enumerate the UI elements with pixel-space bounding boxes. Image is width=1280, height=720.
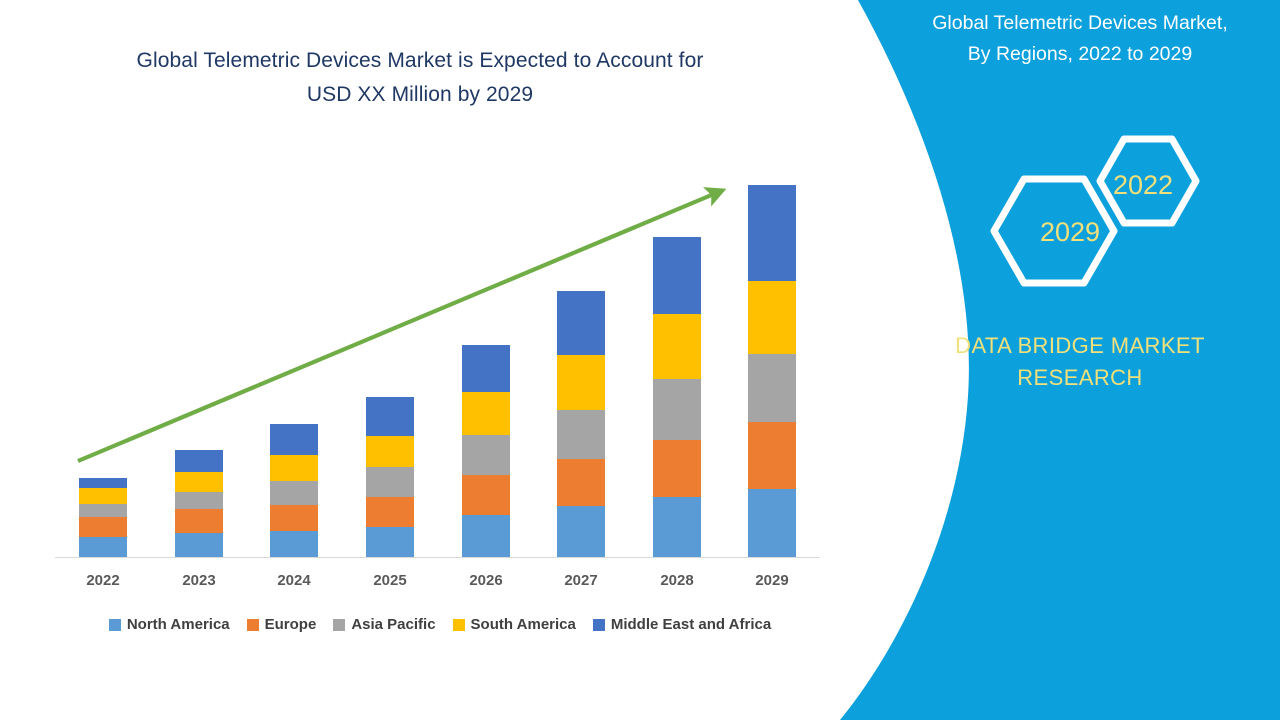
hexagon-2022-label: 2022 — [1088, 170, 1198, 201]
bar-column-2026 — [438, 345, 534, 557]
bar-column-2027 — [533, 291, 629, 557]
legend-item[interactable]: North America — [109, 616, 230, 633]
legend-item[interactable]: Asia Pacific — [333, 616, 435, 633]
bar-segment[interactable] — [270, 531, 318, 557]
legend-label: Europe — [265, 616, 317, 633]
bar-segment[interactable] — [748, 489, 796, 557]
bar-column-2029 — [724, 185, 820, 557]
bar-segment[interactable] — [653, 497, 701, 557]
hexagon-badges — [880, 135, 1280, 295]
panel-title-line-1: Global Telemetric Devices Market, — [932, 12, 1228, 34]
bar-segment[interactable] — [748, 185, 796, 281]
legend-swatch-icon — [333, 619, 345, 631]
x-axis-label-2028: 2028 — [629, 572, 725, 589]
bar-segment[interactable] — [462, 515, 510, 557]
bar-segment[interactable] — [462, 345, 510, 392]
brand-line-2: RESEARCH — [1017, 365, 1142, 390]
legend-swatch-icon — [593, 619, 605, 631]
chart-title-line-1: Global Telemetric Devices Market is Expe… — [137, 49, 704, 72]
brand-name: DATA BRIDGE MARKET RESEARCH — [880, 330, 1280, 394]
stacked-bar[interactable] — [270, 424, 318, 557]
bar-column-2023 — [151, 450, 247, 557]
bar-segment[interactable] — [557, 291, 605, 355]
hexagon-2029-label: 2029 — [1010, 217, 1130, 248]
bar-segment[interactable] — [175, 533, 223, 557]
bar-column-2025 — [342, 397, 438, 557]
chart-legend: North AmericaEuropeAsia PacificSouth Ame… — [50, 616, 830, 633]
bar-segment[interactable] — [79, 517, 127, 537]
brand-line-1: DATA BRIDGE MARKET — [955, 333, 1205, 358]
bar-segment[interactable] — [175, 492, 223, 509]
legend-label: North America — [127, 616, 230, 633]
bar-segment[interactable] — [653, 440, 701, 497]
bar-segment[interactable] — [748, 422, 796, 489]
bar-segment[interactable] — [270, 455, 318, 481]
chart-panel: Global Telemetric Devices Market is Expe… — [0, 0, 840, 720]
x-axis-label-2025: 2025 — [342, 572, 438, 589]
panel-title: Global Telemetric Devices Market, By Reg… — [880, 8, 1280, 70]
stacked-bar[interactable] — [653, 237, 701, 557]
bar-segment[interactable] — [557, 410, 605, 459]
legend-label: Middle East and Africa — [611, 616, 771, 633]
bar-segment[interactable] — [175, 450, 223, 472]
x-axis-label-2022: 2022 — [55, 572, 151, 589]
legend-swatch-icon — [247, 619, 259, 631]
x-axis-label-2023: 2023 — [151, 572, 247, 589]
bar-segment[interactable] — [462, 475, 510, 515]
x-axis-label-2024: 2024 — [246, 572, 342, 589]
bar-segment[interactable] — [79, 537, 127, 557]
bar-column-2024 — [246, 424, 342, 557]
bar-column-2028 — [629, 237, 725, 557]
stacked-bar[interactable] — [175, 450, 223, 557]
bar-segment[interactable] — [270, 481, 318, 505]
bar-segment[interactable] — [557, 355, 605, 410]
bar-segment[interactable] — [366, 397, 414, 436]
x-axis-label-2029: 2029 — [724, 572, 820, 589]
bar-segment[interactable] — [366, 436, 414, 467]
legend-item[interactable]: Middle East and Africa — [593, 616, 771, 633]
stacked-bar[interactable] — [79, 478, 127, 557]
chart-title-line-2: USD XX Million by 2029 — [20, 78, 820, 112]
x-axis-label-2027: 2027 — [533, 572, 629, 589]
legend-item[interactable]: Europe — [247, 616, 317, 633]
x-axis-labels: 20222023202420252026202720282029 — [55, 572, 820, 598]
bar-segment[interactable] — [462, 392, 510, 435]
bar-segment[interactable] — [462, 435, 510, 475]
bar-segment[interactable] — [653, 314, 701, 379]
bar-segment[interactable] — [79, 478, 127, 488]
legend-item[interactable]: South America — [453, 616, 576, 633]
bar-segment[interactable] — [557, 506, 605, 557]
x-axis-label-2026: 2026 — [438, 572, 534, 589]
right-panel-content: Global Telemetric Devices Market, By Reg… — [880, 0, 1280, 720]
stacked-bar-plot — [55, 150, 820, 558]
x-axis-line — [55, 557, 820, 558]
bar-segment[interactable] — [366, 497, 414, 527]
bar-segment[interactable] — [366, 527, 414, 557]
bar-segment[interactable] — [270, 505, 318, 531]
bar-segment[interactable] — [653, 379, 701, 440]
stacked-bar[interactable] — [557, 291, 605, 557]
bar-column-2022 — [55, 478, 151, 557]
bar-segment[interactable] — [748, 281, 796, 354]
bar-segment[interactable] — [79, 488, 127, 504]
bar-segment[interactable] — [175, 472, 223, 492]
chart-title: Global Telemetric Devices Market is Expe… — [20, 44, 820, 112]
legend-label: Asia Pacific — [351, 616, 435, 633]
legend-label: South America — [471, 616, 576, 633]
legend-swatch-icon — [453, 619, 465, 631]
bar-segment[interactable] — [748, 354, 796, 422]
bar-segment[interactable] — [557, 459, 605, 506]
panel-title-line-2: By Regions, 2022 to 2029 — [968, 43, 1192, 65]
infographic-canvas: Global Telemetric Devices Market is Expe… — [0, 0, 1280, 720]
stacked-bar[interactable] — [748, 185, 796, 557]
bar-segment[interactable] — [79, 504, 127, 517]
stacked-bar[interactable] — [462, 345, 510, 557]
bar-segment[interactable] — [270, 424, 318, 455]
bar-segment[interactable] — [175, 509, 223, 533]
legend-swatch-icon — [109, 619, 121, 631]
stacked-bar[interactable] — [366, 397, 414, 557]
bar-segment[interactable] — [366, 467, 414, 497]
bar-segment[interactable] — [653, 237, 701, 314]
